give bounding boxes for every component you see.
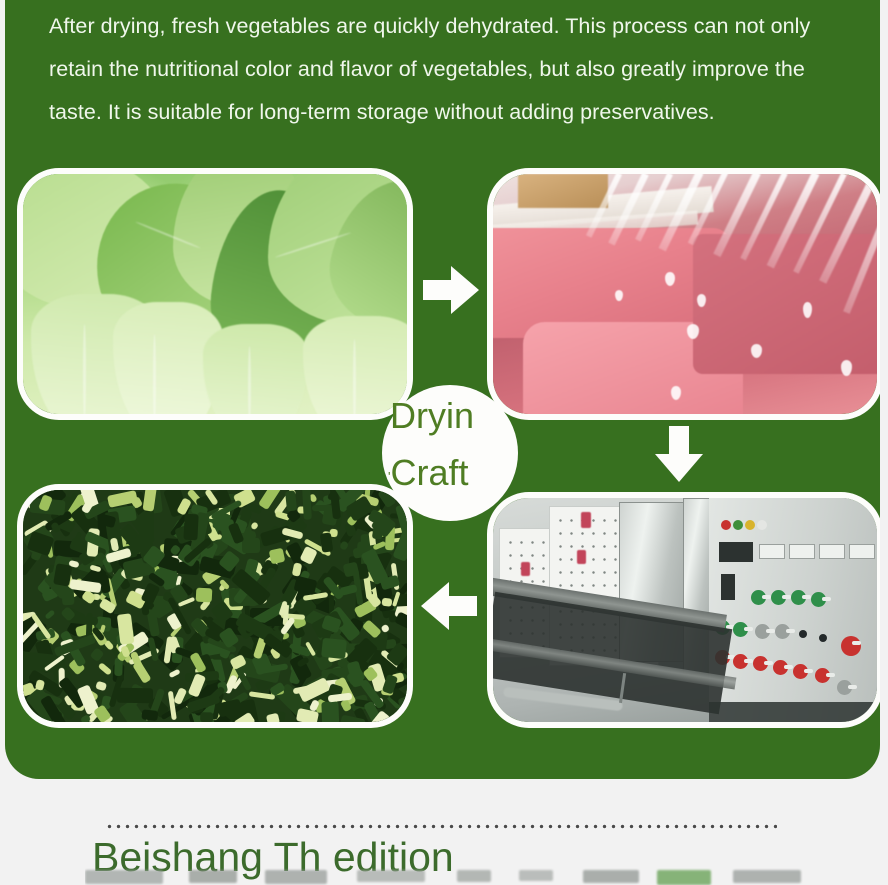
machine-gauge	[819, 544, 845, 559]
control-knob-gray	[837, 680, 852, 695]
machine-gauge	[759, 544, 785, 559]
machine-slot	[721, 574, 735, 600]
photo-washing-stage	[487, 168, 880, 420]
thumbnail-item[interactable]	[357, 870, 425, 882]
control-knob-red	[773, 660, 788, 675]
thumbnail-item[interactable]	[583, 870, 639, 883]
control-knob-gray	[775, 624, 790, 639]
dried-flake	[322, 702, 339, 722]
control-knob-red	[753, 656, 768, 671]
thumbnail-item[interactable]	[265, 870, 327, 884]
photo-fresh-vegetables-inner	[23, 174, 407, 414]
dried-flake	[312, 505, 333, 511]
circle-label-line2: 'Craft	[388, 455, 469, 491]
wood-board	[518, 174, 608, 208]
thumbnail-item[interactable]	[457, 870, 491, 882]
control-knob-red-large	[841, 636, 861, 656]
dried-flake	[195, 588, 211, 603]
arrow-left-icon	[417, 574, 481, 638]
indicator-lamp-yellow	[745, 520, 755, 530]
photo-drying-machine	[487, 492, 880, 728]
page-root: vegetables are washed and blanched befor…	[0, 0, 888, 885]
photo-dried-product	[17, 484, 413, 728]
thumbnail-strip	[85, 868, 805, 885]
control-knob-green	[751, 590, 766, 605]
circle-label-line2-text: Craft	[390, 452, 468, 493]
circle-label-line1: Dryin	[390, 398, 474, 434]
dried-flake	[141, 710, 158, 722]
panel-hole	[819, 634, 827, 642]
dried-flake	[381, 597, 392, 606]
dried-flake	[268, 547, 285, 564]
thumbnail-item[interactable]	[733, 870, 801, 883]
machine-red-mark	[577, 550, 586, 564]
control-knob-green	[733, 622, 748, 637]
control-knob-green	[811, 592, 826, 607]
photo-washing-inner	[493, 174, 877, 414]
control-knob-red	[815, 668, 830, 683]
machine-gauge	[849, 544, 875, 559]
dried-flake	[200, 712, 213, 722]
photo-machine-inner	[493, 498, 877, 722]
thumbnail-item[interactable]	[519, 870, 553, 881]
arrow-right-icon	[419, 258, 483, 322]
bokchoy-stalk	[203, 324, 308, 414]
clipped-top-text: vegetables are washed and blanched befor…	[49, 0, 849, 1]
machine-gauge	[789, 544, 815, 559]
dried-flake	[141, 606, 149, 616]
indicator-lamp-red	[721, 520, 731, 530]
green-content-panel: vegetables are washed and blanched befor…	[5, 0, 880, 779]
thumbnail-item-green[interactable]	[657, 870, 711, 885]
thumbnail-item[interactable]	[189, 870, 237, 883]
machine-red-mark	[581, 512, 591, 528]
photo-dried-inner	[23, 490, 407, 722]
bokchoy-vein	[153, 334, 156, 414]
dried-flake	[321, 638, 347, 659]
control-knob-green	[791, 590, 806, 605]
intro-paragraph: After drying, fresh vegetables are quick…	[49, 5, 854, 134]
control-knob-red	[733, 654, 748, 669]
machine-base-shadow	[709, 702, 877, 722]
control-knob-green	[771, 590, 786, 605]
arrow-down-icon	[647, 424, 711, 488]
control-knob-red	[793, 664, 808, 679]
indicator-lamp-green	[733, 520, 743, 530]
bokchoy-vein	[83, 324, 86, 414]
dried-flake	[183, 514, 198, 541]
machine-display	[719, 542, 753, 562]
dotted-divider	[105, 824, 777, 829]
indicator-lamp-white	[757, 520, 767, 530]
panel-hole	[799, 630, 807, 638]
bokchoy-vein	[353, 339, 356, 414]
control-knob-gray	[755, 624, 770, 639]
thumbnail-item[interactable]	[85, 870, 163, 884]
machine-red-mark	[521, 562, 530, 576]
dried-flake	[117, 688, 153, 704]
photo-fresh-vegetables	[17, 168, 413, 420]
